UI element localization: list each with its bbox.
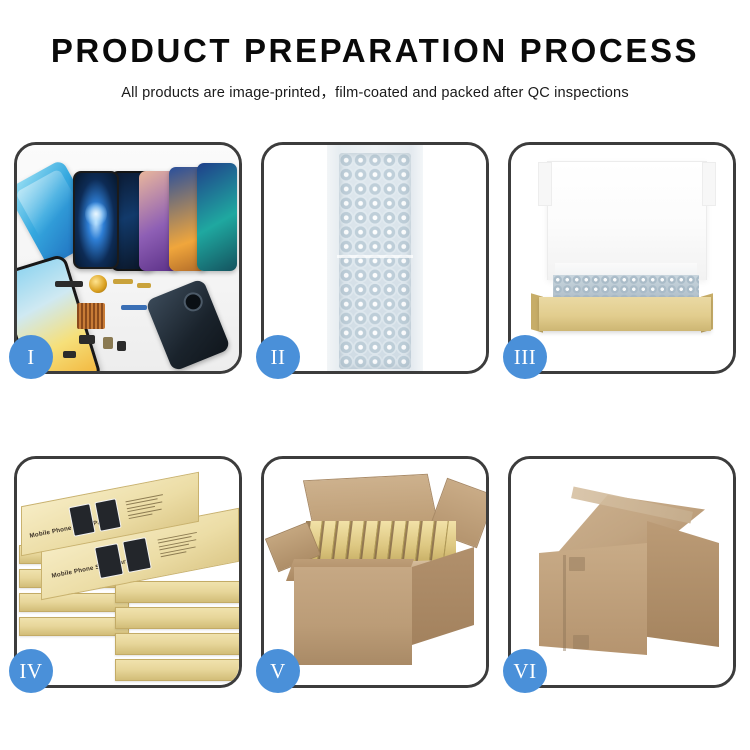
stacked-box [115,607,239,629]
phone-back-cover-icon [145,278,231,371]
step-panel-4: Mobile Phone Spare Parts Mobile Phone Sp… [14,456,242,688]
small-part-icon [103,337,113,349]
inner-box-packing-image [511,145,733,371]
bubble-wrap-pouch [327,145,423,371]
process-steps-grid: I II III [14,142,736,736]
small-part-icon [79,335,95,344]
small-part-icon [55,281,83,287]
step-badge-2: II [256,335,300,379]
stacked-box [115,633,239,655]
step-panel-5: V [261,456,489,688]
carton-front-panel [294,567,412,665]
small-part-icon [117,341,126,351]
carton-edge-seam [563,555,566,651]
carton-tab [569,557,585,571]
kraft-box-tray [539,297,711,331]
small-part-icon [63,351,76,358]
mesh-part-icon [77,303,105,329]
bubble-texture [339,153,411,369]
carton-side-panel [647,521,719,647]
labelled-boxes-stacked-image: Mobile Phone Spare Parts Mobile Phone Sp… [17,459,239,685]
header: PRODUCT PREPARATION PROCESS All products… [0,0,750,102]
step-badge-4: IV [9,649,53,693]
stacked-box [19,593,129,612]
bubble-wrap-packing-image [264,145,486,371]
carton-filling-image [264,459,486,685]
phone-fan-group [23,153,239,271]
step-badge-3: III [503,335,547,379]
pouch-seam [337,255,413,258]
stacked-box [115,581,239,603]
step-panel-6: VI [508,456,736,688]
carton-tab [573,635,589,649]
small-part-icon [137,283,151,288]
step-badge-1: I [9,335,53,379]
carton-front-panel [539,543,647,655]
step-badge-6: VI [503,649,547,693]
speaker-part-icon [89,275,107,293]
flex-cable-icon [121,305,147,310]
box-stack: Mobile Phone Spare Parts Mobile Phone Sp… [19,483,239,683]
flex-cable-icon [113,279,133,284]
page-subtitle: All products are image-printed，film-coat… [0,81,750,102]
phone-icon [197,163,237,271]
stacked-box [19,617,129,636]
sealed-carton-image [511,459,733,685]
step-panel-1: I [14,142,242,374]
step-badge-5: V [256,649,300,693]
stacked-box [115,659,239,681]
products-and-spare-parts-image [17,145,239,371]
step-panel-2: II [261,142,489,374]
page-title: PRODUCT PREPARATION PROCESS [0,34,750,69]
product-preparation-infographic: PRODUCT PREPARATION PROCESS All products… [0,0,750,750]
screen-glass-icon [73,171,119,269]
step-panel-3: III [508,142,736,374]
